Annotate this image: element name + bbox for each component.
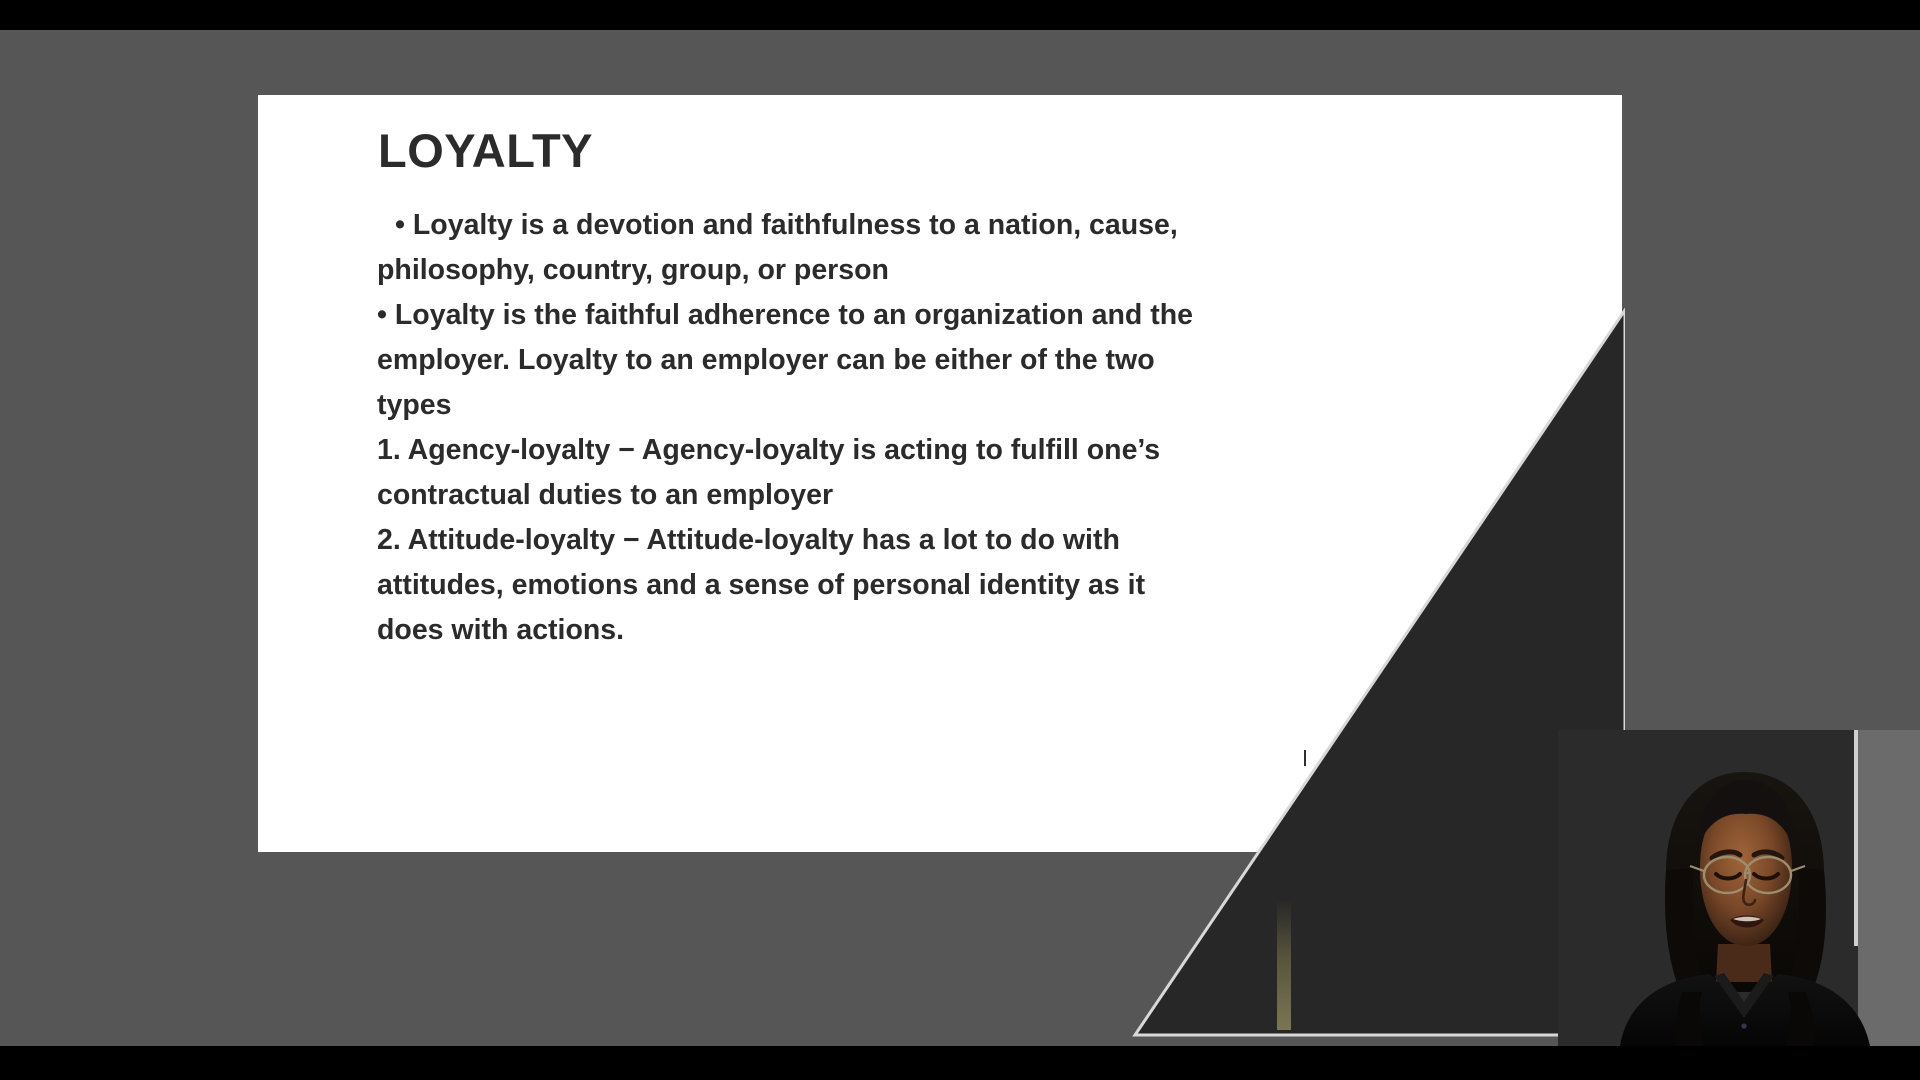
slide-title: LOYALTY — [378, 123, 593, 178]
slide-list-item-1: 1. Agency-loyalty − Agency-loyalty is ac… — [377, 428, 1217, 518]
letterbox-top — [0, 0, 1920, 30]
letterbox-bottom — [0, 1046, 1920, 1080]
slide-bullet-1: • Loyalty is a devotion and faithfulness… — [377, 203, 1217, 293]
cursor-tick-mark — [1304, 750, 1306, 766]
presenter-figure-icon — [1558, 730, 1920, 1046]
presentation-screen: LOYALTY • Loyalty is a devotion and fait… — [0, 0, 1920, 1080]
slide-bullet-2: • Loyalty is the faithful adherence to a… — [377, 293, 1217, 428]
slide-body: • Loyalty is a devotion and faithfulness… — [377, 203, 1217, 653]
slide-list-item-2: 2. Attitude-loyalty − Attitude-loyalty h… — [377, 518, 1217, 653]
slide-canvas: LOYALTY • Loyalty is a devotion and fait… — [258, 95, 1622, 852]
presenter-webcam[interactable] — [1558, 730, 1920, 1046]
